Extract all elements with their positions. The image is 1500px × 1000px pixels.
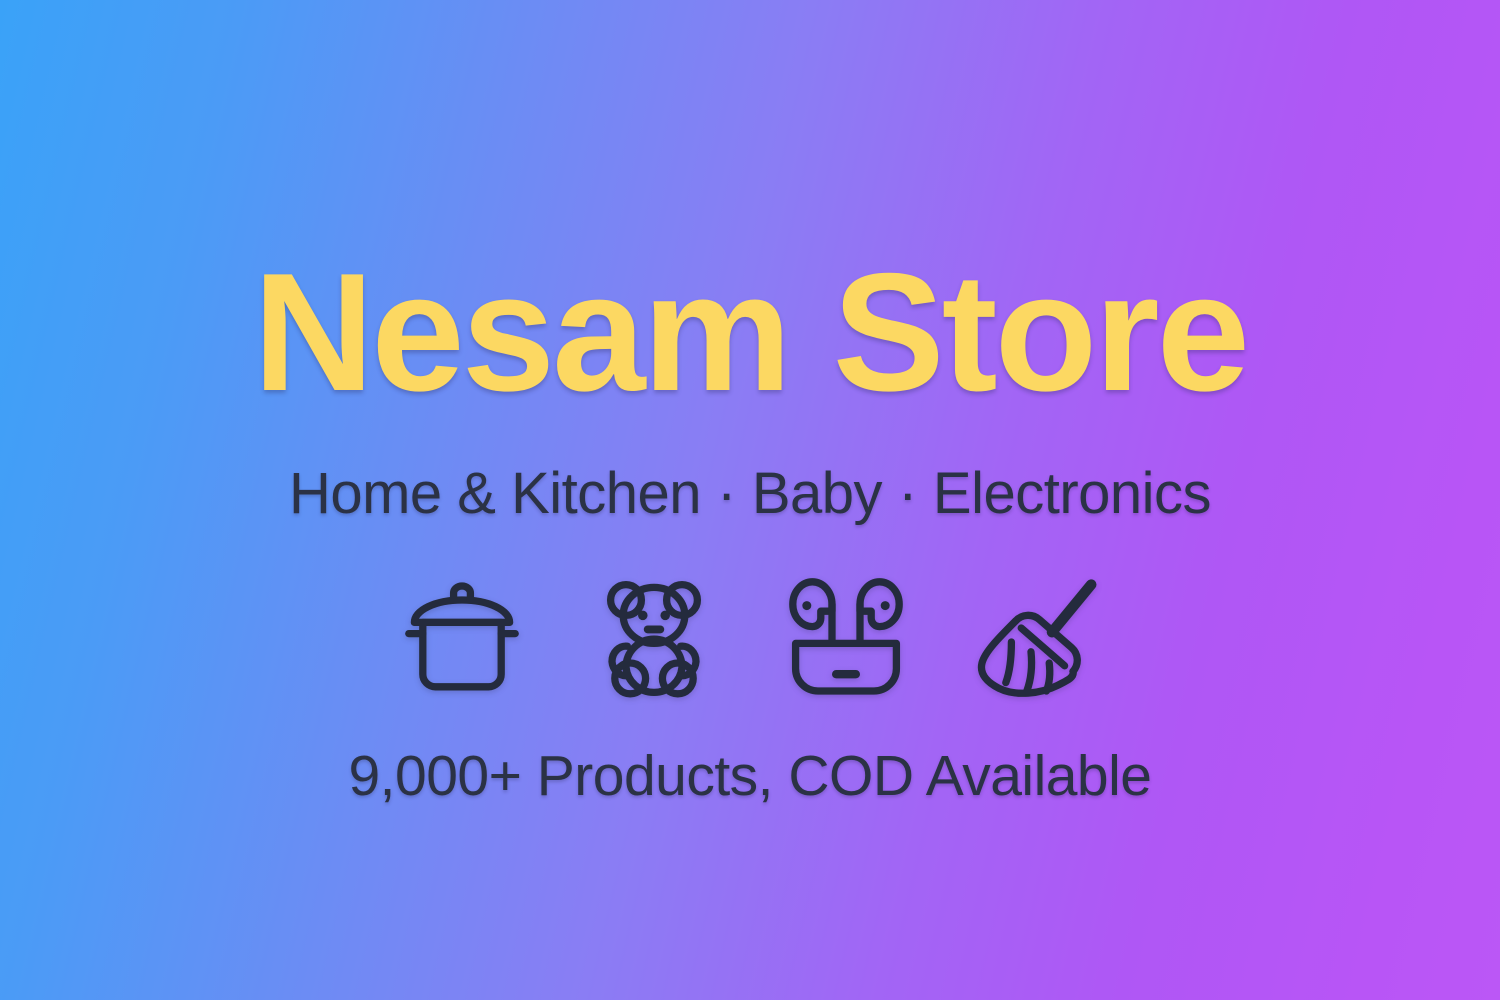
products-count-text: 9,000+ Products, COD Available xyxy=(348,743,1151,809)
category-subtitle: Home & Kitchen · Baby · Electronics xyxy=(289,460,1211,527)
category-baby: Baby xyxy=(752,460,882,527)
category-icon-row xyxy=(392,565,1108,705)
store-title: Nesam Store xyxy=(253,248,1247,416)
teddy-bear-icon xyxy=(584,565,724,705)
category-electronics: Electronics xyxy=(933,460,1211,527)
category-home-kitchen: Home & Kitchen xyxy=(289,460,701,527)
broom-icon xyxy=(968,565,1108,705)
store-promo-banner: Nesam Store Home & Kitchen · Baby · Elec… xyxy=(0,0,1500,1000)
category-separator-dot: · xyxy=(701,460,752,527)
category-separator-dot: · xyxy=(882,460,933,527)
earbuds-case-icon xyxy=(776,565,916,705)
cooking-pot-icon xyxy=(392,565,532,705)
